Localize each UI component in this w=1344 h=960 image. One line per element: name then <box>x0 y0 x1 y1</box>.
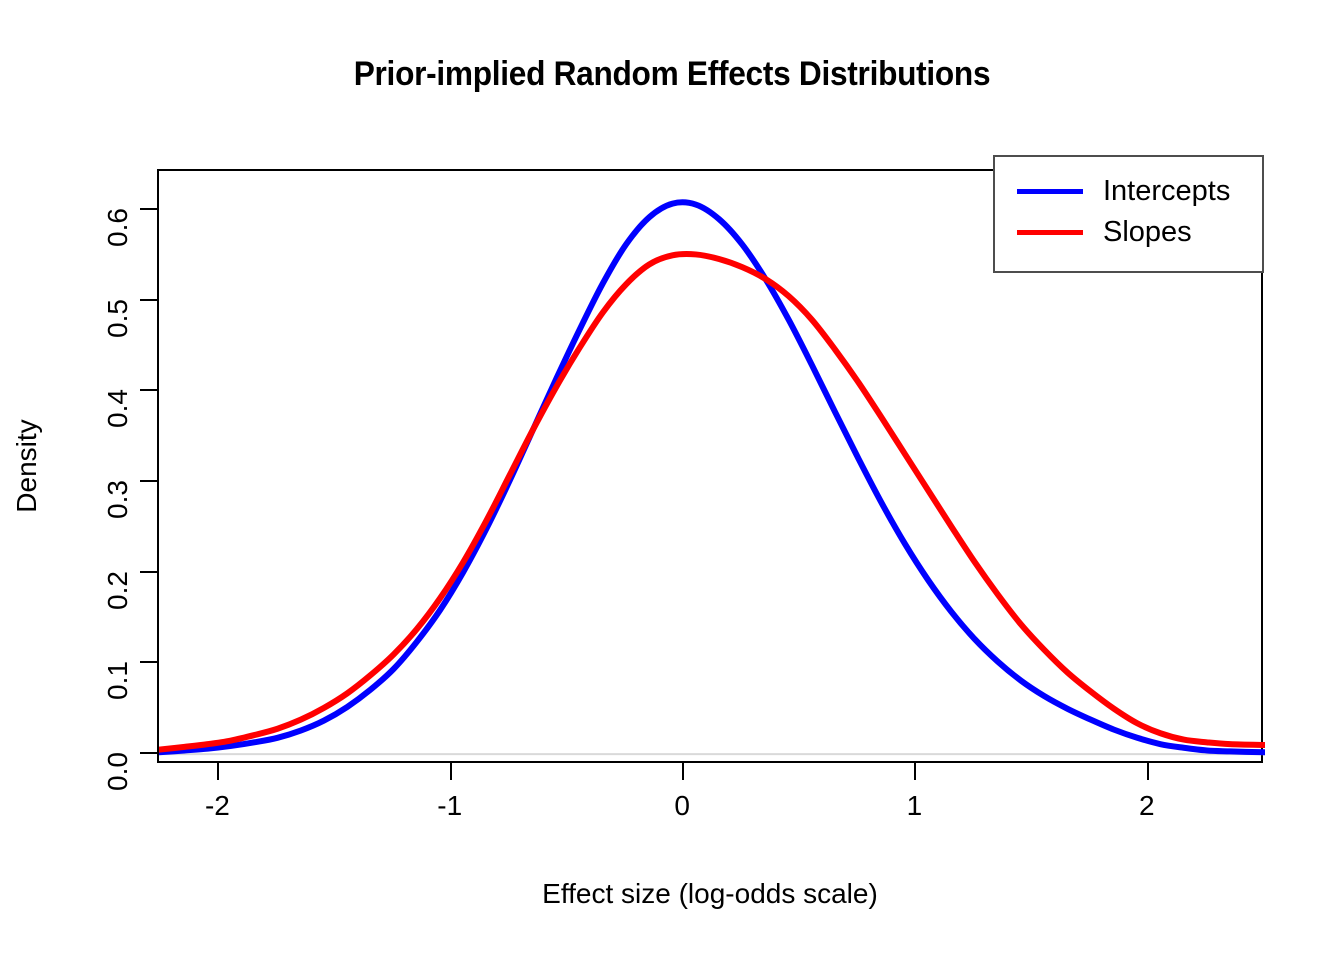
density-curves <box>159 202 1265 752</box>
y-axis-title-wrap: Density <box>10 169 44 763</box>
y-tick-label: 0.1 <box>102 661 134 700</box>
legend-line-swatch <box>1017 189 1083 194</box>
x-tick-label: 0 <box>674 790 690 822</box>
density-curve-slopes <box>159 254 1265 750</box>
x-tick-label: -1 <box>437 790 462 822</box>
y-axis-title: Density <box>11 419 43 512</box>
chart-canvas: Prior-implied Random Effects Distributio… <box>0 0 1344 960</box>
x-axis-title: Effect size (log-odds scale) <box>157 878 1263 910</box>
x-tick-mark <box>450 763 452 780</box>
y-tick-label: 0.2 <box>102 571 134 610</box>
legend: InterceptsSlopes <box>993 155 1264 273</box>
x-tick-label: -2 <box>205 790 230 822</box>
y-tick-mark <box>140 480 157 482</box>
x-tick-mark <box>217 763 219 780</box>
legend-label: Slopes <box>1103 218 1192 247</box>
density-curve-intercepts <box>159 202 1265 752</box>
x-tick-mark <box>914 763 916 780</box>
y-tick-label: 0.5 <box>102 299 134 338</box>
y-tick-label: 0.0 <box>102 752 134 791</box>
legend-label: Intercepts <box>1103 177 1230 206</box>
x-tick-label: 1 <box>907 790 923 822</box>
y-tick-label: 0.3 <box>102 480 134 519</box>
y-tick-label: 0.6 <box>102 208 134 247</box>
y-tick-label: 0.4 <box>102 389 134 428</box>
y-tick-mark <box>140 299 157 301</box>
y-tick-mark <box>140 571 157 573</box>
x-tick-mark <box>682 763 684 780</box>
y-tick-mark <box>140 389 157 391</box>
x-tick-mark <box>1147 763 1149 780</box>
page-title: Prior-implied Random Effects Distributio… <box>47 55 1297 94</box>
legend-item-slopes[interactable]: Slopes <box>995 212 1262 252</box>
legend-line-swatch <box>1017 230 1083 235</box>
y-tick-mark <box>140 208 157 210</box>
y-tick-mark <box>140 752 157 754</box>
x-tick-label: 2 <box>1139 790 1155 822</box>
legend-item-intercepts[interactable]: Intercepts <box>995 171 1262 211</box>
y-tick-mark <box>140 661 157 663</box>
